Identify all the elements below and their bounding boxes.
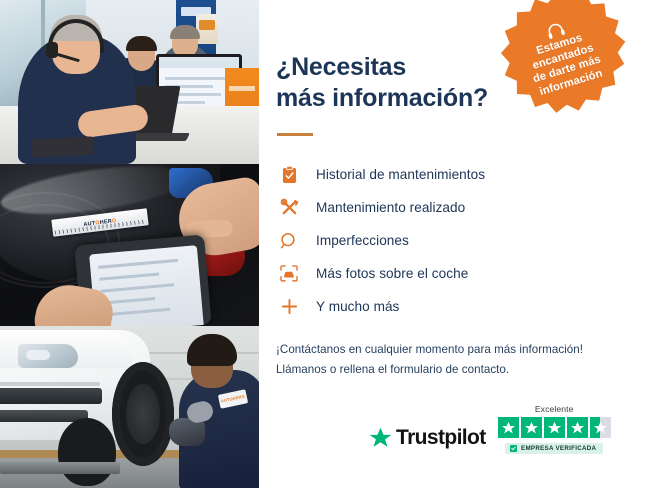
marketing-card: AUTOHERO: [0, 0, 650, 488]
photo-wheel-inspection: AUTOHERO: [0, 326, 259, 488]
plus-icon: [276, 296, 302, 318]
star-1: [498, 417, 519, 438]
trustpilot-star-icon: [369, 427, 392, 449]
contact-paragraph: ¡Contáctanos en cualquier momento para m…: [276, 340, 650, 380]
feature-item-fotos: Más fotos sobre el coche: [276, 257, 650, 290]
clipboard-check-icon: [276, 164, 302, 186]
star-2: [521, 417, 542, 438]
trustpilot-logo: Trustpilot: [369, 426, 486, 450]
content-panel: ¿Necesitas más información? Estamos enca…: [259, 0, 650, 488]
magnifier-icon: [276, 230, 302, 252]
feature-item-imperfecciones: Imperfecciones: [276, 224, 650, 257]
trustpilot-wordmark: Trustpilot: [396, 426, 486, 450]
wrench-screwdriver-icon: [276, 197, 302, 219]
feature-label: Imperfecciones: [316, 233, 409, 248]
title-divider: [277, 133, 313, 136]
feature-label: Historial de mantenimientos: [316, 167, 485, 182]
verified-badge: EMPRESA VERIFICADA: [505, 443, 603, 454]
car-scan-icon: [276, 263, 302, 285]
feature-list: Historial de mantenimientos Mantenimient…: [276, 158, 650, 323]
check-icon: [510, 445, 517, 452]
star-5-half: [590, 417, 611, 438]
photo-column: AUTOHERO: [0, 0, 259, 488]
feature-label: Mantenimiento realizado: [316, 200, 465, 215]
feature-item-mantenimiento: Mantenimiento realizado: [276, 191, 650, 224]
feature-label: Más fotos sobre el coche: [316, 266, 468, 281]
trustpilot-rating: Excelente: [498, 404, 611, 454]
feature-item-mas: Y mucho más: [276, 290, 650, 323]
promo-badge: Estamos encantados de darte más informac…: [497, 0, 629, 117]
heading-line-2: más información?: [276, 84, 488, 112]
star-3: [544, 417, 565, 438]
photo-call-center: [0, 0, 259, 164]
feature-item-historial: Historial de mantenimientos: [276, 158, 650, 191]
feature-label: Y mucho más: [316, 299, 399, 314]
photo-ruler-inspection: AUTOHERO: [0, 164, 259, 326]
trustpilot-widget[interactable]: Trustpilot Excelente: [369, 404, 611, 454]
rating-label: Excelente: [535, 404, 574, 414]
star-4: [567, 417, 588, 438]
star-rating: [498, 417, 611, 438]
paragraph-line-1: ¡Contáctanos en cualquier momento para m…: [276, 340, 650, 360]
heading-line-1: ¿Necesitas: [276, 53, 406, 81]
page-title: ¿Necesitas más información?: [276, 52, 506, 113]
verified-label: EMPRESA VERIFICADA: [521, 445, 596, 452]
paragraph-line-2: Llámanos o rellena el formulario de cont…: [276, 360, 650, 380]
